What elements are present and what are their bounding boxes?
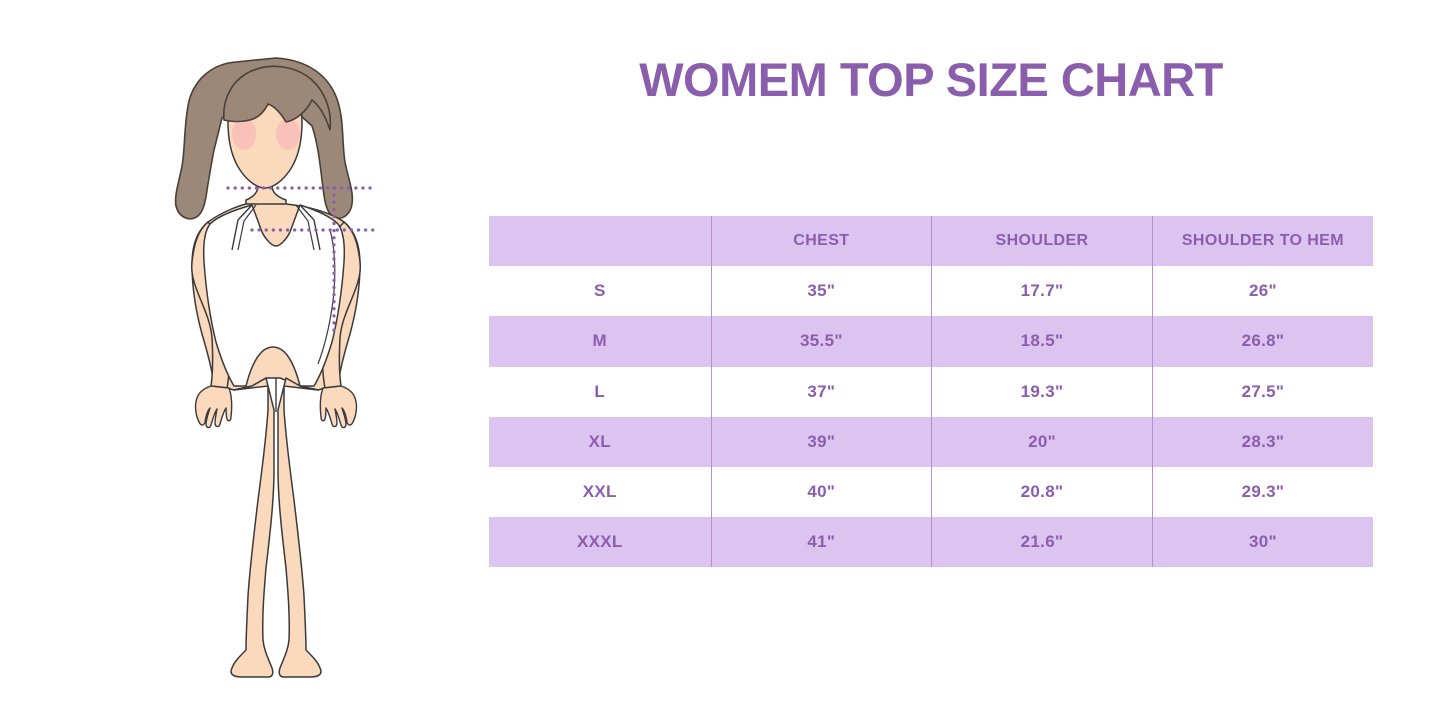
chest-cell: 35" (711, 266, 932, 316)
table-row: XXXL41"21.6"30" (489, 517, 1373, 567)
right-hand-shape (320, 386, 356, 428)
left-hand-shape (196, 386, 232, 428)
left-leg-shape (231, 378, 274, 677)
shoulder-cell: 17.7" (932, 266, 1153, 316)
size-cell: L (489, 367, 711, 417)
shoulder-to-hem-cell: 28.3" (1152, 417, 1373, 467)
shoulder-to-hem-cell: 26.8" (1152, 316, 1373, 366)
size-cell: XXL (489, 467, 711, 517)
shoulder-cell: 19.3" (932, 367, 1153, 417)
blush-left-cheek (232, 118, 256, 150)
column-header-size (489, 216, 711, 266)
chest-cell: 40" (711, 467, 932, 517)
table-row: L37"19.3"27.5" (489, 367, 1373, 417)
size-cell: S (489, 266, 711, 316)
column-header-shoulder: SHOULDER (932, 216, 1153, 266)
shoulder-to-hem-cell: 30" (1152, 517, 1373, 567)
chest-cell: 35.5" (711, 316, 932, 366)
shoulder-cell: 21.6" (932, 517, 1153, 567)
shoulder-cell: 20.8" (932, 467, 1153, 517)
table-row: M35.5"18.5"26.8" (489, 316, 1373, 366)
size-chart-table-wrapper: CHEST SHOULDER SHOULDER TO HEM S35"17.7"… (489, 216, 1373, 567)
table-header-row: CHEST SHOULDER SHOULDER TO HEM (489, 216, 1373, 266)
size-cell: M (489, 316, 711, 366)
table-row: S35"17.7"26" (489, 266, 1373, 316)
blush-right-cheek (276, 118, 300, 150)
size-cell: XL (489, 417, 711, 467)
shoulder-to-hem-cell: 27.5" (1152, 367, 1373, 417)
table-body: S35"17.7"26"M35.5"18.5"26.8"L37"19.3"27.… (489, 266, 1373, 567)
shoulder-to-hem-cell: 29.3" (1152, 467, 1373, 517)
right-leg-shape (278, 378, 321, 677)
shoulder-cell: 18.5" (932, 316, 1153, 366)
model-illustration-panel: SHOULDER CHEST SHOULDER TO HEM (0, 0, 470, 723)
table-row: XXL40"20.8"29.3" (489, 467, 1373, 517)
chest-cell: 39" (711, 417, 932, 467)
table-row: XL39"20"28.3" (489, 417, 1373, 467)
shoulder-to-hem-cell: 26" (1152, 266, 1373, 316)
chest-cell: 41" (711, 517, 932, 567)
page-title: WOMEM TOP SIZE CHART (489, 52, 1373, 107)
shoulder-cell: 20" (932, 417, 1153, 467)
size-chart-table: CHEST SHOULDER SHOULDER TO HEM S35"17.7"… (489, 216, 1373, 567)
chest-cell: 37" (711, 367, 932, 417)
size-chart-page: SHOULDER CHEST SHOULDER TO HEM WOMEM TOP… (0, 0, 1445, 723)
table-header: CHEST SHOULDER SHOULDER TO HEM (489, 216, 1373, 266)
column-header-shoulder-to-hem: SHOULDER TO HEM (1152, 216, 1373, 266)
column-header-chest: CHEST (711, 216, 932, 266)
size-cell: XXXL (489, 517, 711, 567)
female-figure-illustration (0, 0, 470, 723)
